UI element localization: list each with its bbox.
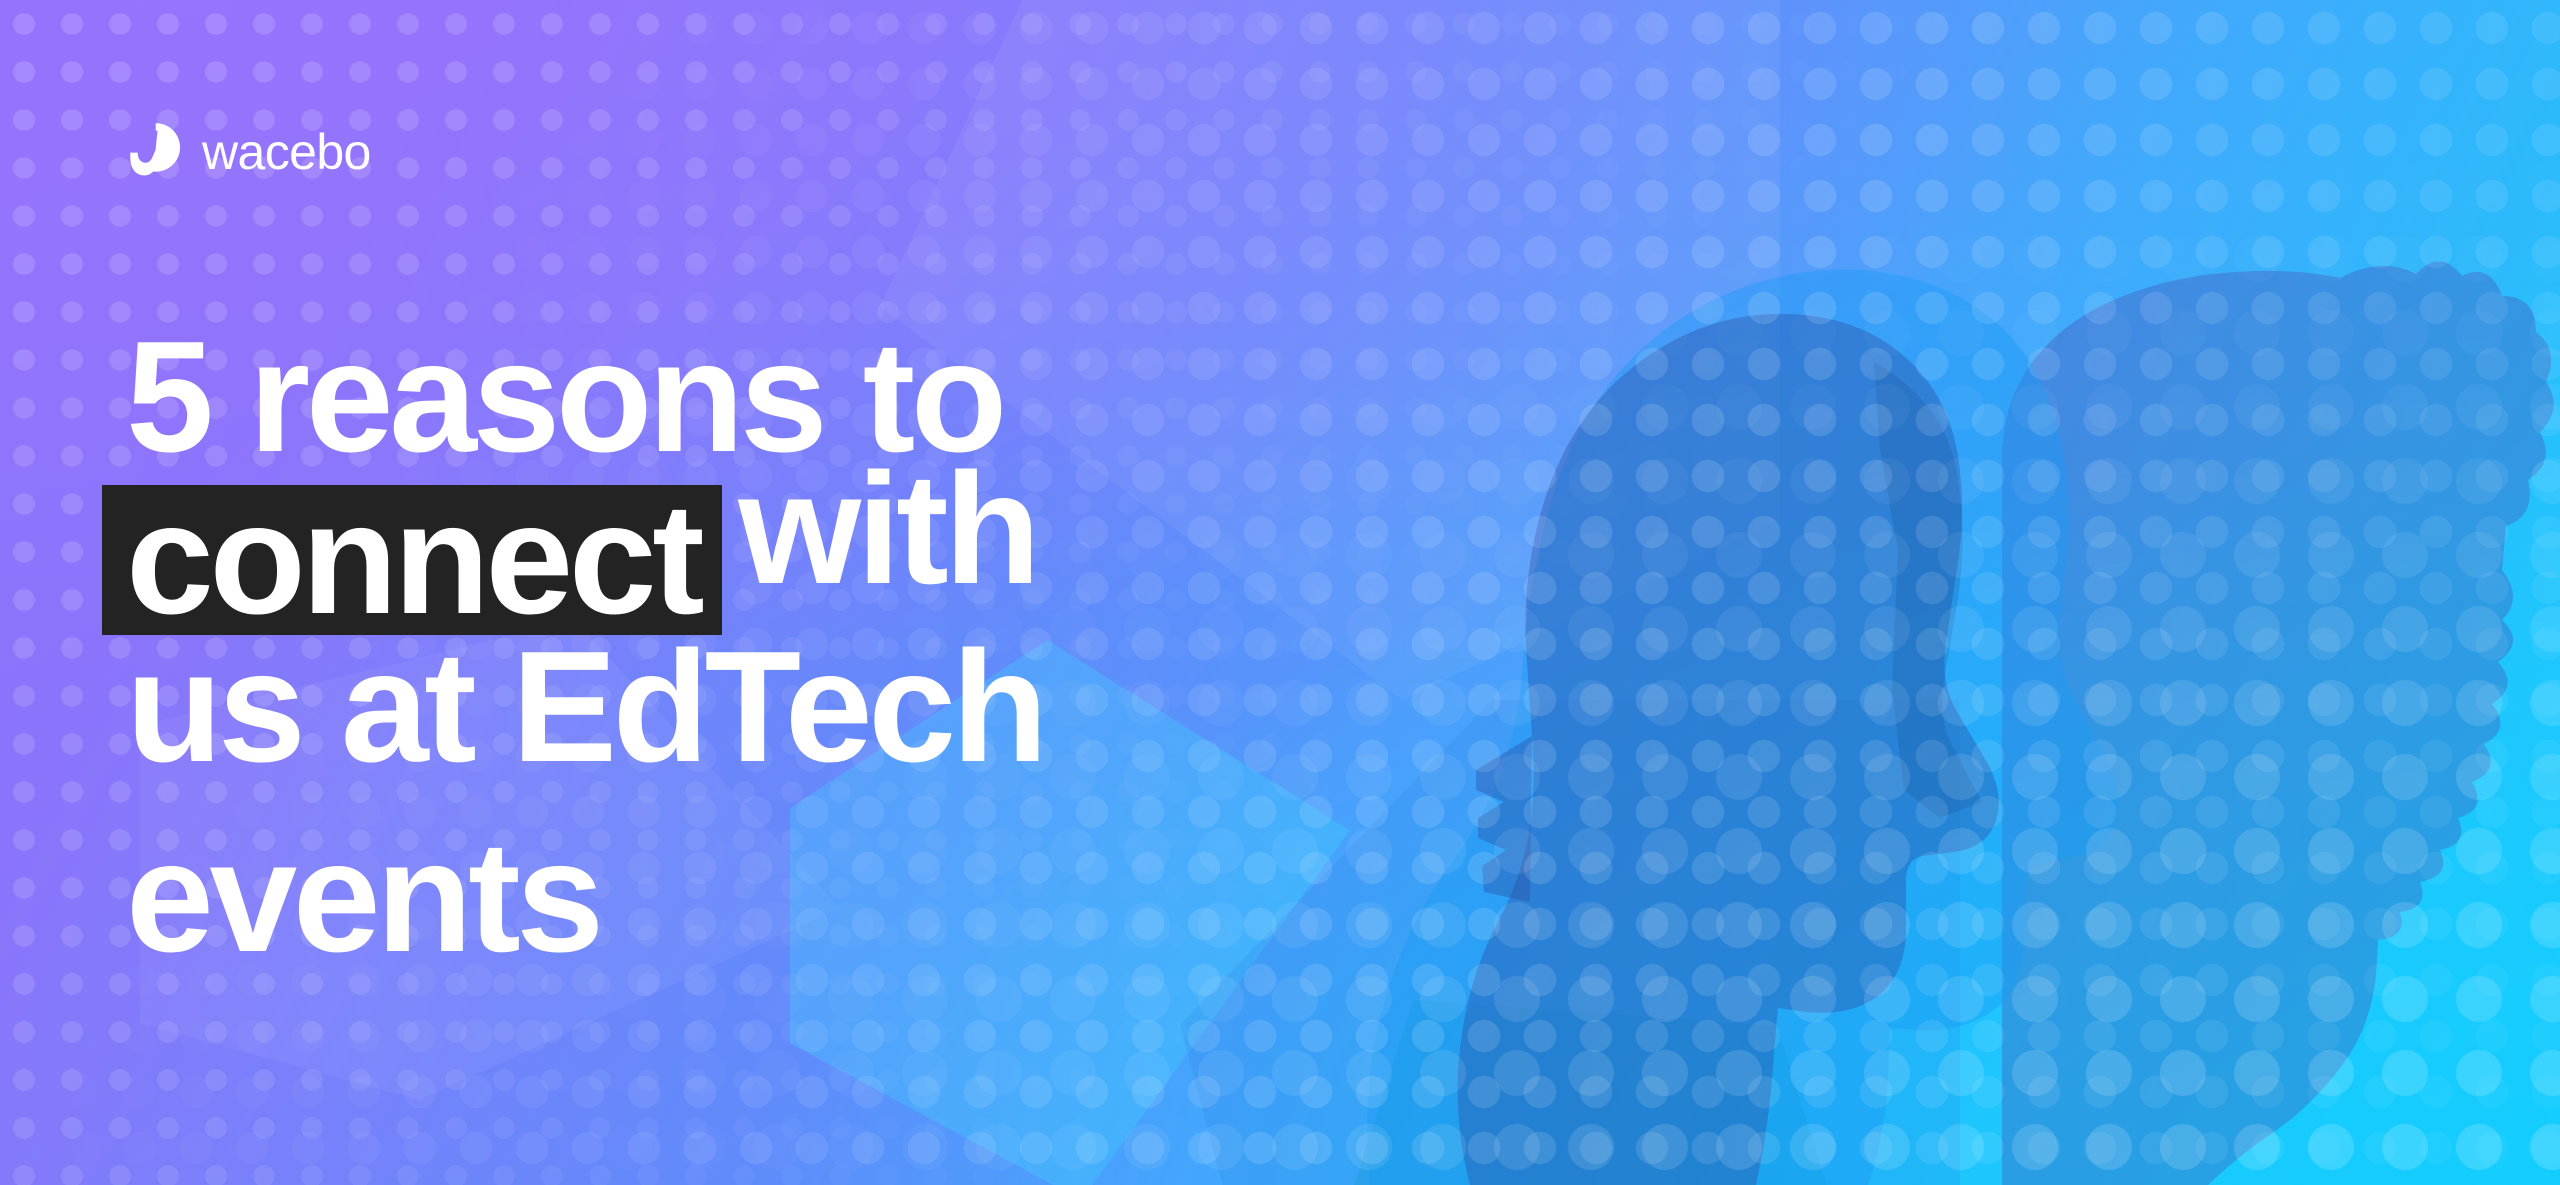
banner-content: wacebo 5 reasons to connectwith us at Ed… bbox=[0, 0, 2560, 1185]
page-title: 5 reasons to connectwith us at EdTech ev… bbox=[126, 311, 1426, 981]
headline-highlight-connect: connect bbox=[102, 485, 722, 635]
edtech-events-hero-banner: wacebo 5 reasons to connectwith us at Ed… bbox=[0, 0, 2560, 1185]
brand-lockup: wacebo bbox=[126, 118, 371, 180]
headline-line-1: 5 reasons to bbox=[126, 311, 1426, 451]
brand-name: wacebo bbox=[202, 127, 371, 177]
headline-line-2-rest: with bbox=[738, 441, 1036, 617]
headline-line-3: us at EdTech bbox=[126, 643, 1426, 791]
headline-line-2: connectwith bbox=[126, 451, 1426, 599]
headline-line-4: events bbox=[126, 833, 1426, 981]
wacebo-logo-icon bbox=[126, 119, 186, 179]
